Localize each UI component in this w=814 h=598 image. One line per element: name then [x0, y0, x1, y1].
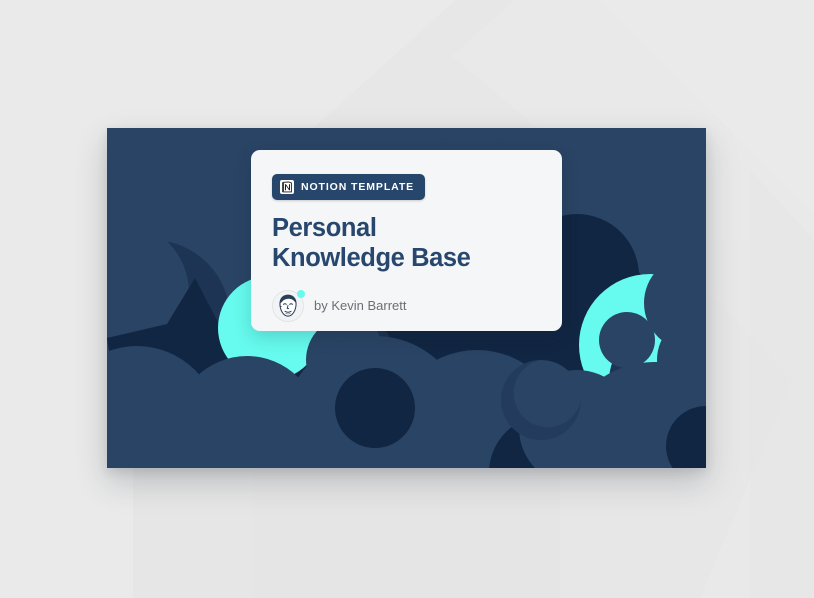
author-byline: by Kevin Barrett — [314, 299, 407, 312]
page-title-line-1: Personal — [272, 214, 377, 242]
page-title-line-2: Knowledge Base — [272, 244, 470, 272]
page-title: Personal Knowledge Base — [272, 214, 522, 274]
badge-label: NOTION TEMPLATE — [301, 182, 414, 193]
avatar-wrapper[interactable] — [272, 290, 304, 322]
author-row: by Kevin Barrett — [272, 290, 562, 322]
notion-template-badge[interactable]: NOTION TEMPLATE — [272, 174, 425, 200]
notion-logo-icon — [279, 179, 295, 195]
online-status-dot — [297, 290, 305, 298]
title-card: NOTION TEMPLATE Personal Knowledge Base — [251, 150, 562, 331]
